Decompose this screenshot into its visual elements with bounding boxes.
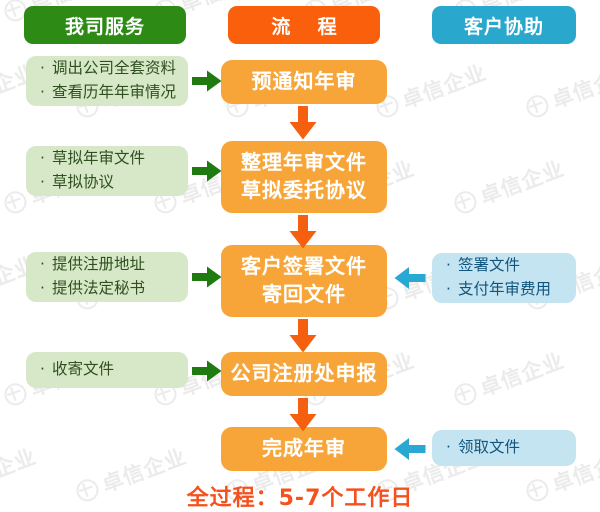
list-item-label: 提供法定秘书 (52, 279, 145, 297)
list-item-label: 草拟协议 (52, 173, 114, 191)
list-item-label: 查看历年年审情况 (52, 83, 176, 101)
bullet-icon: · (40, 277, 52, 301)
list-item: ·提供法定秘书 (40, 277, 174, 301)
list-item: ·签署文件 (446, 254, 562, 278)
process-step-4-label: 公司注册处申报 (231, 360, 378, 388)
flowchart-canvas: 卓信企业卓信企业卓信企业卓信企业卓信企业卓信企业卓信企业卓信企业卓信企业卓信企业… (0, 0, 600, 512)
arrow-down-icon (289, 215, 317, 249)
process-step-2-label-line1: 整理年审文件 (241, 149, 367, 177)
right-info-box-1: ·签署文件 ·支付年审费用 (432, 253, 576, 303)
left-info-box-3: ·提供注册地址 ·提供法定秘书 (26, 252, 188, 302)
right-info-box-2: ·领取文件 (432, 430, 576, 466)
list-item: ·提供注册地址 (40, 253, 174, 277)
process-step-1-label: 预通知年审 (252, 68, 357, 96)
list-item: ·收寄文件 (40, 358, 174, 382)
process-step-4: 公司注册处申报 (221, 352, 387, 396)
process-step-1: 预通知年审 (221, 60, 387, 104)
bullet-icon: · (446, 254, 458, 278)
left-info-box-4: ·收寄文件 (26, 352, 188, 388)
process-step-5: 完成年审 (221, 427, 387, 471)
left-info-box-2: ·草拟年审文件 ·草拟协议 (26, 146, 188, 196)
bullet-icon: · (40, 253, 52, 277)
bullet-icon: · (446, 436, 458, 460)
list-item-label: 草拟年审文件 (52, 149, 145, 167)
bullet-icon: · (446, 278, 458, 302)
process-step-2: 整理年审文件 草拟委托协议 (221, 141, 387, 213)
bullet-icon: · (40, 171, 52, 195)
list-item-label: 调出公司全套资料 (52, 59, 176, 77)
flowchart-content: 我司服务 流 程 客户协助 ·调出公司全套资料 ·查看历年年审情况 ·草拟年审文… (0, 0, 600, 512)
process-step-3-label-line2: 寄回文件 (262, 281, 346, 309)
column-header-process: 流 程 (228, 6, 380, 44)
arrow-down-icon (289, 398, 317, 432)
column-header-our-services-label: 我司服务 (65, 12, 145, 39)
list-item-label: 领取文件 (458, 438, 520, 456)
process-step-3-label-line1: 客户签署文件 (241, 253, 367, 281)
arrow-down-icon (289, 319, 317, 353)
list-item: ·查看历年年审情况 (40, 81, 174, 105)
column-header-client-assist-label: 客户协助 (464, 12, 544, 39)
arrow-right-icon (192, 70, 222, 92)
process-step-3: 客户签署文件 寄回文件 (221, 245, 387, 317)
column-header-process-label: 流 程 (260, 12, 347, 39)
column-header-our-services: 我司服务 (24, 6, 186, 44)
list-item: ·草拟年审文件 (40, 147, 174, 171)
list-item-label: 支付年审费用 (458, 280, 551, 298)
arrow-down-icon (289, 106, 317, 140)
list-item: ·草拟协议 (40, 171, 174, 195)
bullet-icon: · (40, 358, 52, 382)
bullet-icon: · (40, 81, 52, 105)
bullet-icon: · (40, 57, 52, 81)
list-item: ·领取文件 (446, 436, 562, 460)
left-info-box-1: ·调出公司全套资料 ·查看历年年审情况 (26, 56, 188, 106)
arrow-left-icon (394, 437, 426, 461)
bullet-icon: · (40, 147, 52, 171)
arrow-left-icon (394, 266, 426, 290)
process-step-5-label: 完成年审 (262, 435, 346, 463)
list-item-label: 收寄文件 (52, 360, 114, 378)
list-item: ·调出公司全套资料 (40, 57, 174, 81)
process-step-2-label-line2: 草拟委托协议 (241, 177, 367, 205)
arrow-right-icon (192, 266, 222, 288)
total-duration-note: 全过程：5-7个工作日 (0, 480, 600, 512)
arrow-right-icon (192, 360, 222, 382)
column-header-client-assist: 客户协助 (432, 6, 576, 44)
list-item-label: 签署文件 (458, 256, 520, 274)
arrow-right-icon (192, 160, 222, 182)
list-item: ·支付年审费用 (446, 278, 562, 302)
list-item-label: 提供注册地址 (52, 255, 145, 273)
